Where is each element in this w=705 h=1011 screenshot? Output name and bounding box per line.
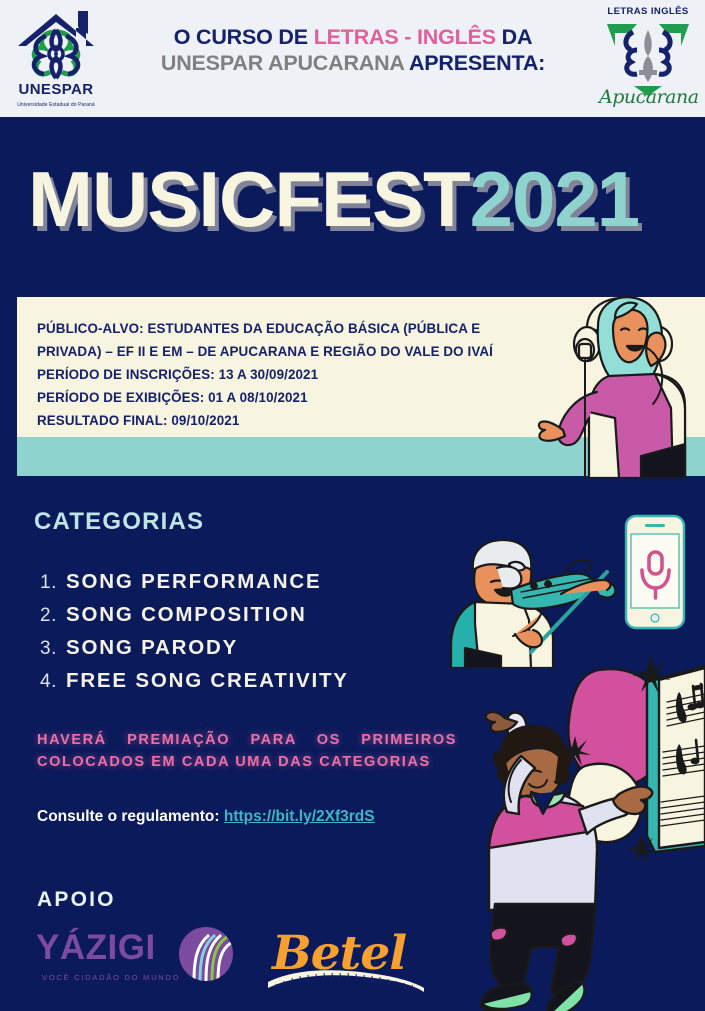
betel-logo: Betel <box>266 922 431 1002</box>
category-number-1: 1. <box>40 572 66 594</box>
header-headline-line2: UNESPAR APUCARANA APRESENTA: <box>118 50 588 76</box>
category-item-2: 2. SONG COMPOSITION <box>40 603 349 627</box>
category-number-4: 4. <box>40 671 66 693</box>
info-line-final-result: RESULTADO FINAL: 09/10/2021 <box>37 409 547 432</box>
header-text-apresenta: APRESENTA: <box>409 51 545 75</box>
info-line-registration-period: PERÍODO DE INSCRIÇÕES: 13 A 30/09/2021 <box>37 363 547 386</box>
category-label-4: FREE SONG CREATIVITY <box>66 669 349 693</box>
letras-ingles-apucarana-logo: LETRAS INGLÊS Apucarana <box>599 6 697 110</box>
smartphone-microphone-illustration <box>622 512 692 634</box>
title-main-text: MUSICFEST <box>28 155 470 243</box>
unespar-logo-word: UNESPAR <box>6 81 106 98</box>
info-line-target-audience: PÚBLICO-ALVO: ESTUDANTES DA EDUCAÇÃO BÁS… <box>37 317 547 363</box>
categories-list: 1. SONG PERFORMANCE 2. SONG COMPOSITION … <box>40 570 349 702</box>
category-item-1: 1. SONG PERFORMANCE <box>40 570 349 594</box>
category-number-3: 3. <box>40 638 66 660</box>
sponsor-logos: YÁZIGI VOCÊ CIDADÃO DO MUNDO Betel <box>34 920 434 1005</box>
prize-note: HAVERÁ PREMIAÇÃO PARA OS PRIMEIROS COLOC… <box>37 730 457 774</box>
regulation-link[interactable]: https://bit.ly/2Xf3rdS <box>224 808 375 825</box>
header-headline: O CURSO DE LETRAS - INGLÊS DA UNESPAR AP… <box>118 24 588 76</box>
regulation-line: Consulte o regulamento: https://bit.ly/2… <box>37 808 375 826</box>
info-box-teal-strip <box>17 437 705 476</box>
apucarana-script-word: Apucarana <box>599 86 697 108</box>
poster-title: MUSICFEST2021 <box>28 160 639 238</box>
header-text-letras-ingles: LETRAS - INGLÊS <box>314 25 496 49</box>
category-item-4: 4. FREE SONG CREATIVITY <box>40 669 349 693</box>
violinist-illustration <box>445 528 630 668</box>
poster-header: UNESPAR Universidade Estadual do Paraná … <box>0 0 705 117</box>
header-text-unespar-apucarana: UNESPAR APUCARANA <box>161 51 409 75</box>
event-info-box: PÚBLICO-ALVO: ESTUDANTES DA EDUCAÇÃO BÁS… <box>17 297 705 476</box>
regulation-label: Consulte o regulamento: <box>37 808 224 825</box>
header-headline-line1: O CURSO DE LETRAS - INGLÊS DA <box>118 24 588 50</box>
piano-keys-swoosh-icon <box>266 964 426 994</box>
yazigi-logo-tagline: VOCÊ CIDADÃO DO MUNDO <box>42 973 180 982</box>
yazigi-circle-mark-icon <box>179 927 233 981</box>
info-line-exhibition-period: PERÍODO DE EXIBIÇÕES: 01 A 08/10/2021 <box>37 386 547 409</box>
categories-heading: CATEGORIAS <box>34 508 204 536</box>
category-label-3: SONG PARODY <box>66 636 238 660</box>
category-number-2: 2. <box>40 605 66 627</box>
support-heading: APOIO <box>37 888 116 912</box>
microphone-icon <box>642 552 669 598</box>
title-year-text: 2021 <box>470 155 640 243</box>
unespar-logo-subtitle: Universidade Estadual do Paraná <box>6 102 106 108</box>
event-info-text: PÚBLICO-ALVO: ESTUDANTES DA EDUCAÇÃO BÁS… <box>37 317 547 432</box>
header-text-o-curso-de: O CURSO DE <box>174 25 314 49</box>
prize-note-line2: COLOCADOS EM CADA UMA DAS CATEGORIAS <box>37 752 457 774</box>
fleur-de-lis-emblem-icon <box>599 16 697 96</box>
category-label-1: SONG PERFORMANCE <box>66 570 321 594</box>
category-item-3: 3. SONG PARODY <box>40 636 349 660</box>
yazigi-logo: YÁZIGI VOCÊ CIDADÃO DO MUNDO <box>36 928 266 1000</box>
dancer-with-sheet-music-illustration <box>455 636 705 1011</box>
phone-body-icon <box>626 516 684 628</box>
prize-note-line1: HAVERÁ PREMIAÇÃO PARA OS PRIMEIROS <box>37 730 457 752</box>
unespar-logo: UNESPAR Universidade Estadual do Paraná <box>6 6 106 111</box>
header-text-da: DA <box>496 25 532 49</box>
yazigi-logo-word: YÁZIGI <box>36 928 156 968</box>
category-label-2: SONG COMPOSITION <box>66 603 307 627</box>
poster-root: UNESPAR Universidade Estadual do Paraná … <box>0 0 705 1011</box>
